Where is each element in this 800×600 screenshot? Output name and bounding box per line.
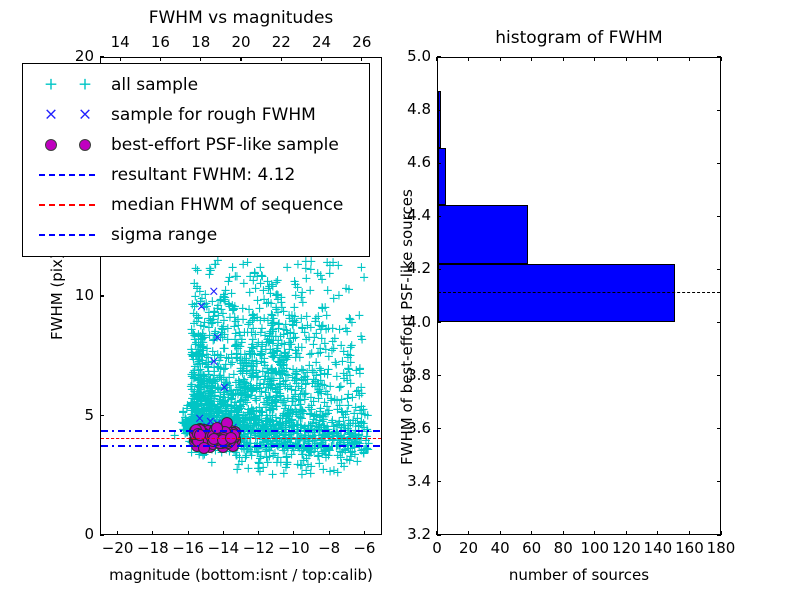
hist-y-tick [437,216,441,217]
hist-y-tick [437,56,441,57]
right-x-axis-label: number of sources [437,566,721,584]
scatter-point-all: + [231,351,242,366]
scatter-point-all: + [292,257,303,272]
hist-y-tick [437,110,441,111]
x-tick [293,531,294,535]
scatter-point-all: + [267,467,278,482]
scatter-point-rough: × [212,330,223,345]
x-tick-label: −18 [135,539,171,557]
hist-top-tick [720,57,721,61]
hist-top-tick [468,57,469,61]
hist-y-tick-label: 3.2 [389,525,431,543]
scatter-point-all: + [258,284,269,299]
hist-y-tick-label: 4.4 [389,206,431,224]
hist-x-tick-label: 120 [610,539,642,557]
scatter-point-all: + [212,301,223,316]
x-tick [188,531,189,535]
scatter-point-all: + [254,464,265,479]
histogram-axes [437,57,721,535]
top-x-tick [200,57,201,61]
x-tick-label: −8 [311,539,347,557]
hist-x-tick [468,531,469,535]
scatter-point-all: + [199,331,210,346]
scatter-point-all: + [295,387,306,402]
scatter-point-all: + [336,339,347,354]
scatter-point-all: + [356,260,367,275]
top-x-tick [160,57,161,61]
histogram-bar [438,264,675,322]
scatter-point-all: + [273,355,284,370]
top-x-tick [120,57,121,61]
hist-x-tick-label: 60 [516,539,548,557]
scatter-point-all: + [341,282,352,297]
hist-top-tick [657,57,658,61]
legend-sample-plus-icon: ++ [31,73,105,97]
legend-label: best-effort PSF-like sample [105,135,339,155]
hist-y-tick-label: 4.2 [389,259,431,277]
cross-icon: × [44,107,58,124]
scatter-point-all: + [298,439,309,454]
scatter-point-all: + [233,313,244,328]
scatter-point-all: + [324,266,335,281]
scatter-point-all: + [271,386,282,401]
plus-icon: + [44,77,58,94]
hist-y-tick-right [717,534,721,535]
hist-x-tick [594,531,595,535]
figure-canvas: FWHM vs magnitudes +++++++++++++++++++++… [0,0,800,600]
legend-label: sigma range [105,225,217,245]
top-x-tick-label: 22 [263,33,299,51]
histogram-bar [438,91,441,148]
hist-top-tick [436,57,437,61]
legend-sample-cross-icon: ×× [31,103,105,127]
circle-icon [45,139,57,151]
hist-y-tick-label: 3.8 [389,366,431,384]
legend-sample-dashdot-line-icon [31,223,105,247]
top-x-tick [361,57,362,61]
hist-y-tick [437,269,441,270]
scatter-point-rough: × [208,354,219,369]
scatter-point-all: + [238,258,249,273]
hist-top-tick [531,57,532,61]
scatter-point-all: + [290,289,301,304]
scatter-point-all: + [347,316,358,331]
left-x-axis-label: magnitude (bottom:isnt / top:calib) [100,566,382,584]
hist-y-tick-right [717,269,721,270]
scatter-point-all: + [293,410,304,425]
hist-x-tick [531,531,532,535]
legend-item: best-effort PSF-like sample [31,130,359,160]
hist-top-tick [563,57,564,61]
legend-item: ××sample for rough FWHM [31,100,359,130]
scatter-point-all: + [359,420,370,435]
scatter-point-all: + [190,262,201,277]
scatter-point-rough: × [208,285,219,300]
scatter-point-all: + [328,291,339,306]
y-tick [100,534,104,535]
legend-sample-circle-icon [31,133,105,157]
scatter-point-all: + [298,453,309,468]
scatter-point-all: + [323,362,334,377]
hist-x-tick-label: 180 [705,539,737,557]
hist-top-tick [626,57,627,61]
scatter-point-all: + [348,416,359,431]
scatter-point-all: + [325,464,336,479]
legend-label: median FHWM of sequence [105,195,343,215]
scatter-point-all: + [192,280,203,295]
circle-icon [79,139,91,151]
scatter-point-all: + [199,315,210,330]
legend-label: sample for rough FWHM [105,105,316,125]
scatter-point-all: + [305,390,316,405]
top-x-tick-label: 14 [102,33,138,51]
scatter-point-all: + [261,397,272,412]
histogram-bar [438,205,528,263]
hist-x-tick-label: 20 [453,539,485,557]
histogram-plot-area [438,58,720,534]
hist-y-tick-right [717,428,721,429]
scatter-point-all: + [284,311,295,326]
hist-top-tick [594,57,595,61]
legend-item: sigma range [31,220,359,250]
y-tick-label: 0 [52,525,94,543]
hist-y-tick-label: 3.6 [389,419,431,437]
histogram-bar [438,148,446,205]
hist-y-tick-right [717,216,721,217]
legend-sample-dashed-line-icon [31,193,105,217]
hist-y-tick-right [717,322,721,323]
hline-sigma-upper [101,430,381,432]
hist-y-tick-label: 4.8 [389,100,431,118]
legend-label: all sample [105,75,198,95]
hist-x-tick-label: 40 [484,539,516,557]
scatter-point-all: + [254,381,265,396]
hist-x-tick [689,531,690,535]
hist-y-tick [437,534,441,535]
legend-sample-dashed-line-icon [31,163,105,187]
scatter-point-all: + [294,350,305,365]
hist-x-tick [500,531,501,535]
scatter-point-all: + [315,341,326,356]
hist-y-tick [437,375,441,376]
scatter-point-all: + [346,339,357,354]
hist-x-tick-label: 140 [642,539,674,557]
scatter-point-all: + [250,328,261,343]
scatter-point-all: + [186,397,197,412]
hist-y-tick-right [717,163,721,164]
scatter-point-all: + [260,342,271,357]
scatter-point-all: + [334,322,345,337]
hist-y-tick-label: 4.0 [389,313,431,331]
legend-label: resultant FWHM: 4.12 [105,165,295,185]
scatter-point-all: + [341,368,352,383]
x-tick [329,531,330,535]
scatter-point-all: + [356,330,367,345]
y-tick [100,56,104,57]
cross-icon: × [78,107,92,124]
hist-y-tick-label: 4.6 [389,153,431,171]
hist-y-tick [437,322,441,323]
y-tick-label: 10 [52,286,94,304]
x-tick-label: −16 [170,539,206,557]
dashed-line-icon [39,204,95,206]
chart-legend: ++all sample××sample for rough FWHMbest-… [22,63,370,257]
hist-x-tick [626,531,627,535]
scatter-point-all: + [282,326,293,341]
scatter-point-all: + [354,388,365,403]
top-x-tick [240,57,241,61]
scatter-point-rough: × [196,299,207,314]
dashdot-line-icon [39,234,95,236]
hist-resultant-line [438,292,720,293]
scatter-point-all: + [226,400,237,415]
legend-item: resultant FWHM: 4.12 [31,160,359,190]
hist-x-tick [563,531,564,535]
hist-x-tick-label: 80 [547,539,579,557]
top-x-tick [281,57,282,61]
top-x-tick-label: 20 [223,33,259,51]
hist-y-tick-right [717,375,721,376]
top-x-tick [321,57,322,61]
x-tick [152,531,153,535]
x-tick-label: −12 [241,539,277,557]
scatter-point-all: + [238,276,249,291]
scatter-point-all: + [289,274,300,289]
plus-icon: + [78,77,92,94]
hist-top-tick [500,57,501,61]
scatter-point-all: + [354,363,365,378]
scatter-point-all: + [256,269,267,284]
x-tick [364,531,365,535]
scatter-point-all: + [248,360,259,375]
hist-x-tick-label: 160 [673,539,705,557]
hist-y-tick-label: 3.4 [389,472,431,490]
hist-x-tick-label: 100 [579,539,611,557]
scatter-point-all: + [248,308,259,323]
left-chart-title: FWHM vs magnitudes [100,8,382,28]
y-tick [100,295,104,296]
hist-y-tick [437,428,441,429]
top-x-tick-label: 16 [142,33,178,51]
x-tick-label: −20 [100,539,136,557]
legend-item: ++all sample [31,70,359,100]
hist-y-tick-right [717,481,721,482]
scatter-point-all: + [282,456,293,471]
hist-y-tick-label: 5.0 [389,47,431,65]
hist-y-tick [437,163,441,164]
scatter-point-all: + [337,445,348,460]
hist-top-tick [689,57,690,61]
scatter-point-rough: × [219,380,230,395]
scatter-point-all: + [321,323,332,338]
scatter-point-all: + [301,272,312,287]
dashed-line-icon [39,174,95,176]
x-tick-label: −10 [276,539,312,557]
scatter-point-all: + [297,321,308,336]
hline-sigma-lower [101,445,381,447]
y-tick [100,415,104,416]
scatter-point-all: + [271,301,282,316]
top-x-tick-label: 26 [344,33,380,51]
scatter-point-all: + [317,300,328,315]
scatter-point-all: + [268,322,279,337]
x-tick-label: −14 [205,539,241,557]
top-x-tick-label: 18 [183,33,219,51]
hist-x-tick [657,531,658,535]
scatter-point-all: + [212,315,223,330]
hist-y-tick-right [717,110,721,111]
x-tick-label: −6 [346,539,382,557]
scatter-point-all: + [226,286,237,301]
x-tick [117,531,118,535]
x-tick [223,531,224,535]
scatter-point-all: + [204,267,215,282]
legend-item: median FHWM of sequence [31,190,359,220]
hline-median-fhwm-of-sequence [101,438,381,439]
right-chart-title: histogram of FWHM [437,28,721,48]
y-tick-label: 5 [52,406,94,424]
x-tick [258,531,259,535]
hist-y-tick [437,481,441,482]
top-x-tick-label: 24 [304,33,340,51]
